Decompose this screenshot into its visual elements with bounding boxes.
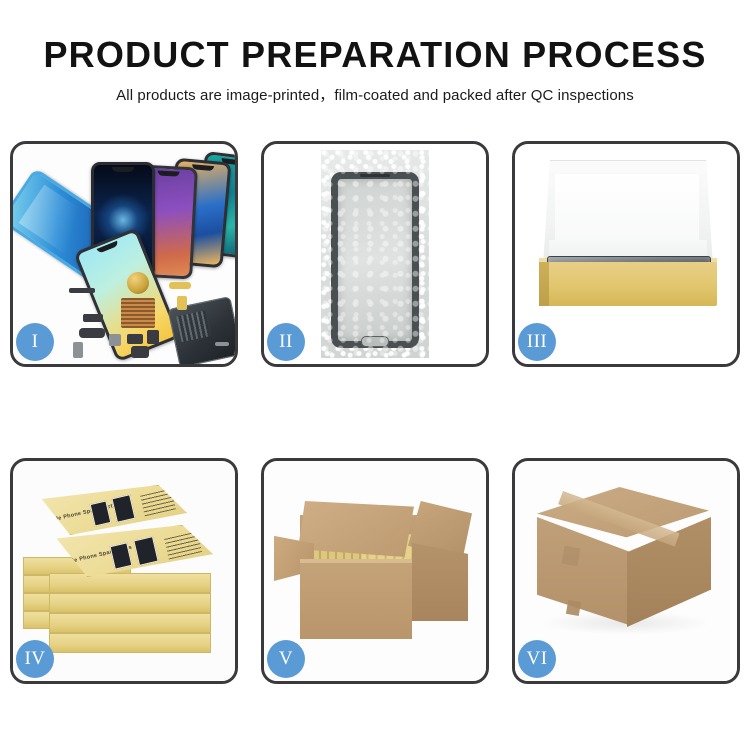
part-bracket bbox=[83, 314, 103, 322]
part-button bbox=[109, 334, 121, 346]
stacked-box bbox=[49, 633, 211, 653]
step-panel-6: VI bbox=[512, 458, 740, 684]
step-badge-1: I bbox=[16, 323, 54, 361]
speaker-part bbox=[127, 272, 149, 294]
tape-tab bbox=[562, 546, 581, 567]
step-panel-4: Mobile Phone Spare Parts Mobile Phone Sp… bbox=[10, 458, 238, 684]
kraft-box-body bbox=[539, 262, 717, 306]
step-badge-5: V bbox=[267, 640, 305, 678]
step-badge-4: IV bbox=[16, 640, 54, 678]
product-preparation-infographic: PRODUCT PREPARATION PROCESS All products… bbox=[0, 0, 750, 750]
part-screw-set bbox=[215, 342, 229, 346]
part-connector bbox=[177, 296, 187, 310]
part-sim-tray bbox=[73, 342, 83, 358]
bubble-texture bbox=[321, 150, 429, 358]
tape-tab bbox=[566, 600, 581, 616]
step-panel-5: V bbox=[261, 458, 489, 684]
carton-side-face bbox=[412, 543, 468, 621]
page-title: PRODUCT PREPARATION PROCESS bbox=[0, 34, 750, 76]
page-subtitle: All products are image-printed，film-coat… bbox=[0, 84, 750, 105]
part-motor bbox=[147, 330, 159, 344]
step-panel-3: III bbox=[512, 141, 740, 367]
carton-flap-back bbox=[298, 501, 414, 557]
box-phone-image bbox=[111, 494, 135, 523]
part-speaker-box bbox=[127, 334, 143, 344]
notch bbox=[157, 170, 179, 176]
stacked-box bbox=[49, 613, 211, 633]
part-flex-cable bbox=[169, 282, 191, 289]
header: PRODUCT PREPARATION PROCESS All products… bbox=[0, 0, 750, 125]
step-badge-6: VI bbox=[518, 640, 556, 678]
bubble-wrap-sheet bbox=[321, 150, 429, 358]
process-step-grid: I II bbox=[10, 141, 740, 691]
step-badge-3: III bbox=[518, 323, 556, 361]
stacked-box bbox=[49, 593, 211, 613]
spare-parts-cluster bbox=[69, 272, 235, 364]
part-camera bbox=[79, 328, 105, 338]
notch bbox=[112, 167, 134, 172]
carton-front-face bbox=[300, 563, 412, 639]
step-panel-1: I bbox=[10, 141, 238, 367]
copper-mesh-part bbox=[121, 298, 155, 328]
part-strip bbox=[69, 288, 95, 293]
part-buzzer bbox=[131, 346, 149, 358]
kraft-box-side bbox=[539, 262, 549, 306]
step-badge-2: II bbox=[267, 323, 305, 361]
notch bbox=[97, 241, 119, 254]
box-phone-image bbox=[133, 536, 158, 566]
stacked-box bbox=[49, 573, 211, 593]
step-panel-2: II bbox=[261, 141, 489, 367]
